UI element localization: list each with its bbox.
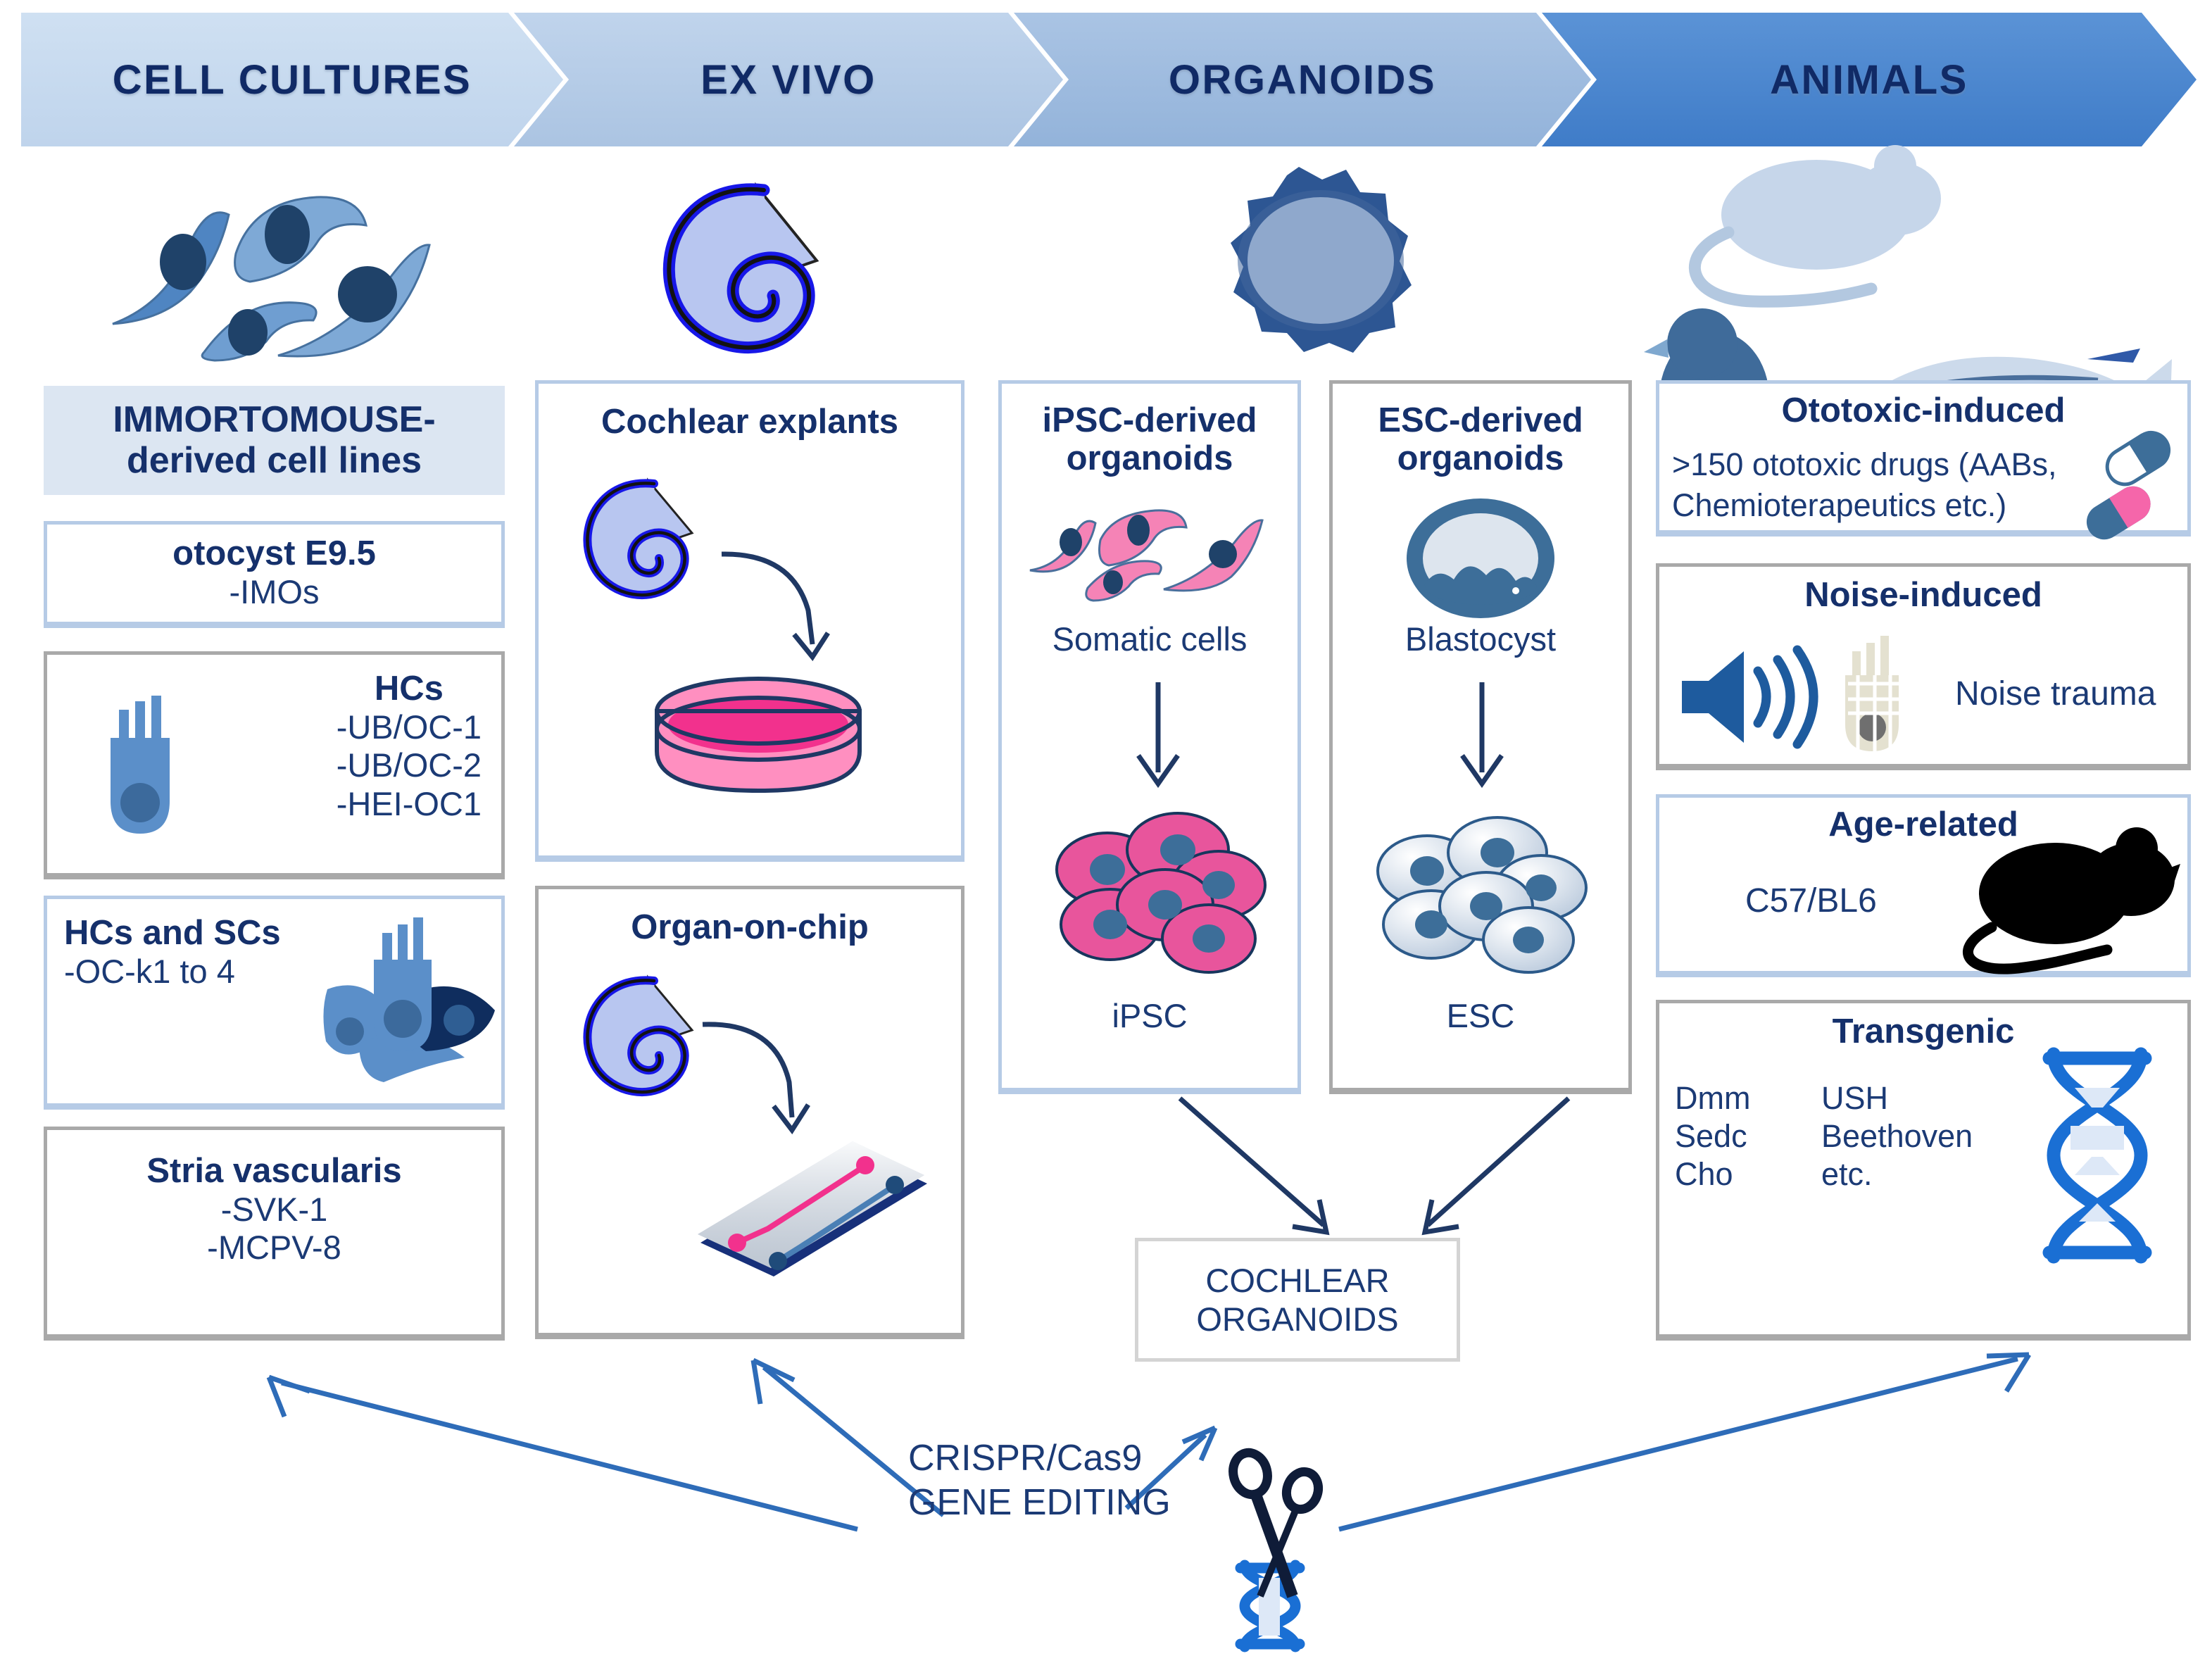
immortomouse-header-line1: IMMORTOMOUSE- (113, 400, 435, 440)
organ-on-chip-title: Organ-on-chip (539, 909, 961, 947)
animal-models-icon-header (1647, 148, 2182, 359)
hcs-line-2: -UB/OC-2 (337, 746, 482, 785)
transgenic-col1-item2: Sedc (1675, 1117, 1750, 1155)
petri-dish-icon (644, 672, 884, 813)
transgenic-col2-item3: etc. (1821, 1155, 1973, 1193)
transgenic-box-main[interactable]: Transgenic Dmm Sedc Cho USH Beethoven et… (1656, 1000, 2191, 1338)
otocyst-box[interactable]: otocyst E9.5 -IMOs (44, 521, 505, 625)
stage-banner: CELL CULTURES EX VIVO ORGANOIDS ANIMALS (0, 13, 2212, 146)
stage-chevron-ex-vivo[interactable]: EX VIVO (514, 13, 1063, 146)
hcs-and-scs-title: HCs and SCs (64, 915, 281, 953)
pills-icon (2079, 436, 2178, 534)
noise-induced-box[interactable]: Noise-induced Noise trauma (1656, 563, 2191, 767)
stage-label-cell-cultures: CELL CULTURES (113, 56, 472, 103)
stage-label-ex-vivo: EX VIVO (700, 56, 876, 103)
cochlea-icon (572, 470, 713, 610)
organoid-icon-header (1197, 158, 1401, 363)
hcs-line-1: -UB/OC-1 (337, 708, 482, 747)
ipsc-label: iPSC (1002, 996, 1297, 1035)
stage-chevron-cell-cultures[interactable]: CELL CULTURES (21, 13, 563, 146)
esc-title-line2: organoids (1333, 440, 1628, 478)
crispr-label: CRISPR/Cas9 GENE EDITING (908, 1436, 1171, 1526)
hcs-line-3: -HEI-OC1 (337, 785, 482, 824)
converging-arrows-icon (1112, 1098, 1633, 1260)
stage-chevron-organoids[interactable]: ORGANOIDS (1014, 13, 1591, 146)
hcs-box[interactable]: HCs -UB/OC-1 -UB/OC-2 -HEI-OC1 (44, 651, 505, 877)
stria-vascularis-line-1: -SVK-1 (221, 1191, 328, 1229)
esc-derived-organoids-box[interactable]: ESC-derived organoids Blastocyst (1329, 380, 1632, 1091)
transgenic-col1-item3: Cho (1675, 1155, 1750, 1193)
stria-vascularis-title: Stria vascularis (146, 1153, 401, 1191)
age-related-strain: C57/BL6 (1745, 881, 1877, 922)
down-arrow-icon (1127, 679, 1190, 792)
stage-chevron-animals[interactable]: ANIMALS (1542, 13, 2197, 146)
mouse-silhouette-icon (1962, 829, 2187, 977)
crispr-line2: GENE EDITING (908, 1481, 1171, 1525)
crispr-line1: CRISPR/Cas9 (908, 1436, 1171, 1481)
otocyst-title: otocyst E9.5 (172, 535, 376, 573)
cochlear-explants-title: Cochlear explants (539, 403, 961, 441)
esc-cluster-icon (1376, 806, 1588, 982)
down-arrow-icon (1451, 679, 1514, 792)
scissors-dna-icon (1190, 1447, 1401, 1651)
immortomouse-header-line2: derived cell lines (127, 441, 422, 481)
cochlear-organoids-line1: COCHLEAR (1205, 1261, 1389, 1300)
ototoxic-line-1: >150 ototoxic drugs (AABs, (1672, 446, 2057, 484)
speaker-icon (1679, 644, 1827, 750)
hcs-and-scs-box[interactable]: HCs and SCs -OC-k1 to 4 (44, 896, 505, 1107)
stage-label-animals: ANIMALS (1770, 56, 1968, 103)
ipsc-cluster-icon (1052, 806, 1264, 982)
esc-label: ESC (1333, 996, 1628, 1035)
transfer-arrow-icon (718, 546, 859, 672)
transfer-arrow-icon (699, 1017, 840, 1151)
ototoxic-line-2: Chemioterapeutics etc.) (1672, 487, 2006, 525)
stria-vascularis-box[interactable]: Stria vascularis -SVK-1 -MCPV-8 (44, 1127, 505, 1338)
transgenic-col2-item1: USH (1821, 1079, 1973, 1117)
transgenic-col1-item1: Dmm (1675, 1079, 1750, 1117)
ototoxic-title: Ototoxic-induced (1659, 392, 2187, 430)
hair-cell-damaged-icon (1834, 634, 1925, 754)
somatic-cells-icon (1023, 503, 1283, 609)
blastocyst-label: Blastocyst (1333, 620, 1628, 658)
ipsc-derived-organoids-box[interactable]: iPSC-derived organoids Somatic cells (998, 380, 1301, 1091)
esc-title-line1: ESC-derived (1333, 402, 1628, 440)
cochlear-explants-box[interactable]: Cochlear explants (535, 380, 964, 859)
organ-on-chip-box[interactable]: Organ-on-chip (535, 886, 964, 1336)
dna-helix-icon (2035, 1048, 2169, 1281)
stage-label-organoids: ORGANOIDS (1169, 56, 1436, 103)
microfluidic-chip-icon (695, 1137, 934, 1292)
otocyst-line-1: -IMOs (230, 573, 320, 612)
somatic-cells-label: Somatic cells (1002, 620, 1297, 658)
noise-induced-title: Noise-induced (1659, 577, 2187, 615)
cochlea-icon (572, 967, 713, 1108)
cochlea-icon-header (648, 169, 845, 366)
mouse-outline-icon (1695, 145, 1941, 301)
hcs-and-scs-line-1: -OC-k1 to 4 (64, 953, 281, 991)
ipsc-title-line2: organoids (1002, 440, 1297, 478)
blastocyst-icon (1403, 496, 1572, 623)
transgenic-col2-item2: Beethoven (1821, 1117, 1973, 1155)
stria-vascularis-line-2: -MCPV-8 (207, 1229, 341, 1267)
cultured-cells-icon (84, 176, 507, 352)
ototoxic-induced-box[interactable]: Ototoxic-induced >150 ototoxic drugs (AA… (1656, 380, 2191, 534)
age-related-box[interactable]: Age-related C57/BL6 (1656, 794, 2191, 974)
hair-cell-icon (96, 696, 202, 847)
immortomouse-header-box: IMMORTOMOUSE- derived cell lines (44, 386, 505, 495)
hair-cell-and-supporting-cell-icon (320, 913, 503, 1089)
transgenic-title: Transgenic (1659, 1013, 2187, 1051)
noise-trauma-label: Noise trauma (1955, 674, 2156, 715)
hcs-title: HCs (337, 670, 482, 708)
ipsc-title-line1: iPSC-derived (1002, 402, 1297, 440)
